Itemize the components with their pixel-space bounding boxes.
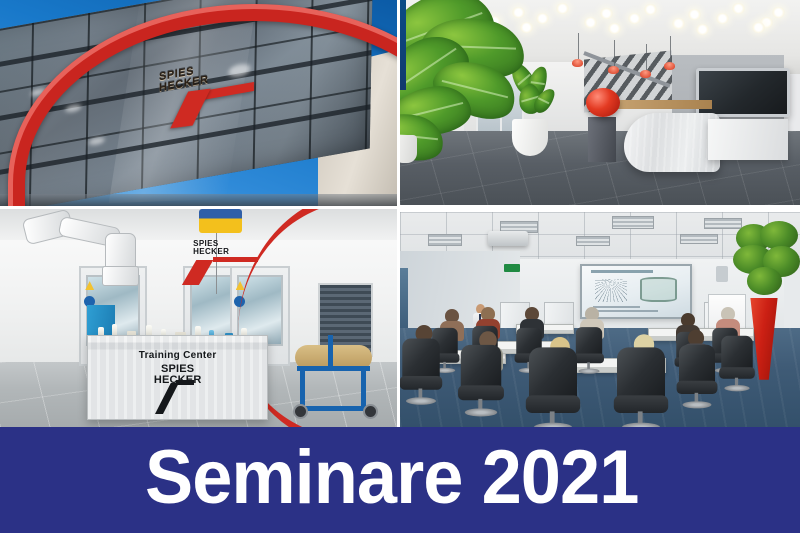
sculpture-pedestal [588, 117, 616, 162]
reception-desk [624, 113, 720, 172]
indoor-tree [728, 221, 800, 307]
slide-diagram-cylinder [640, 277, 676, 302]
emergency-exit-sign [504, 264, 520, 272]
large-foliage-plant [400, 0, 528, 166]
title-banner: Seminare 2021 [0, 427, 800, 533]
robotic-paint-arm [24, 209, 159, 301]
spies-hecker-logo-mark-black [162, 380, 194, 415]
training-center-label: Training Center [88, 350, 267, 361]
office-chair [458, 345, 504, 415]
building-signage: SPIES HECKER [159, 68, 262, 126]
wall-mounted-tv [696, 68, 790, 117]
office-chair [719, 335, 755, 390]
slide-diagram-burst [595, 279, 627, 302]
wall-speaker [716, 266, 728, 282]
ceiling-projector [488, 231, 528, 246]
pendant-lamp [640, 70, 651, 78]
photo-training-workshop[interactable]: SPIES HECKER [0, 209, 397, 427]
office-chair [400, 339, 442, 404]
room-left-blue-panel [400, 268, 408, 333]
lobby-wood-counter [612, 100, 712, 108]
photo-grid: SPIES HECKER [0, 0, 800, 427]
photo-building-facade[interactable]: SPIES HECKER [0, 0, 397, 206]
overhead-hoist [199, 209, 243, 233]
office-chair [614, 347, 668, 427]
ceiling-vent [428, 234, 462, 247]
red-sphere-sculpture [586, 88, 620, 117]
photo-seminar-room[interactable] [400, 212, 800, 427]
lobby-scene [400, 0, 800, 205]
office-chair [526, 347, 580, 427]
office-chair [677, 344, 718, 406]
seminar-poster: SPIES HECKER [0, 0, 800, 533]
lobby-side-cabinet [708, 119, 788, 160]
ceiling-vent [680, 234, 718, 245]
spies-hecker-logo-mark-red [175, 85, 251, 128]
workshop-scene: SPIES HECKER [0, 209, 397, 427]
page-title: Seminare 2021 [145, 440, 638, 516]
wall-logo-text: SPIES HECKER [193, 240, 229, 257]
pendant-lamp [664, 62, 675, 70]
ceiling-vent [576, 236, 610, 247]
ceiling-vent [612, 216, 654, 229]
slide-title-bar [591, 270, 654, 273]
training-center-counter: Training Center SPIES HECKER [87, 335, 268, 420]
lobby-left-edge-strip [400, 0, 406, 90]
plant-pot [400, 135, 417, 163]
pendant-lamp [608, 66, 619, 74]
paper-roll-rack [290, 333, 377, 416]
photo-reception-lobby[interactable] [400, 0, 800, 205]
seminar-room-scene [400, 212, 800, 427]
